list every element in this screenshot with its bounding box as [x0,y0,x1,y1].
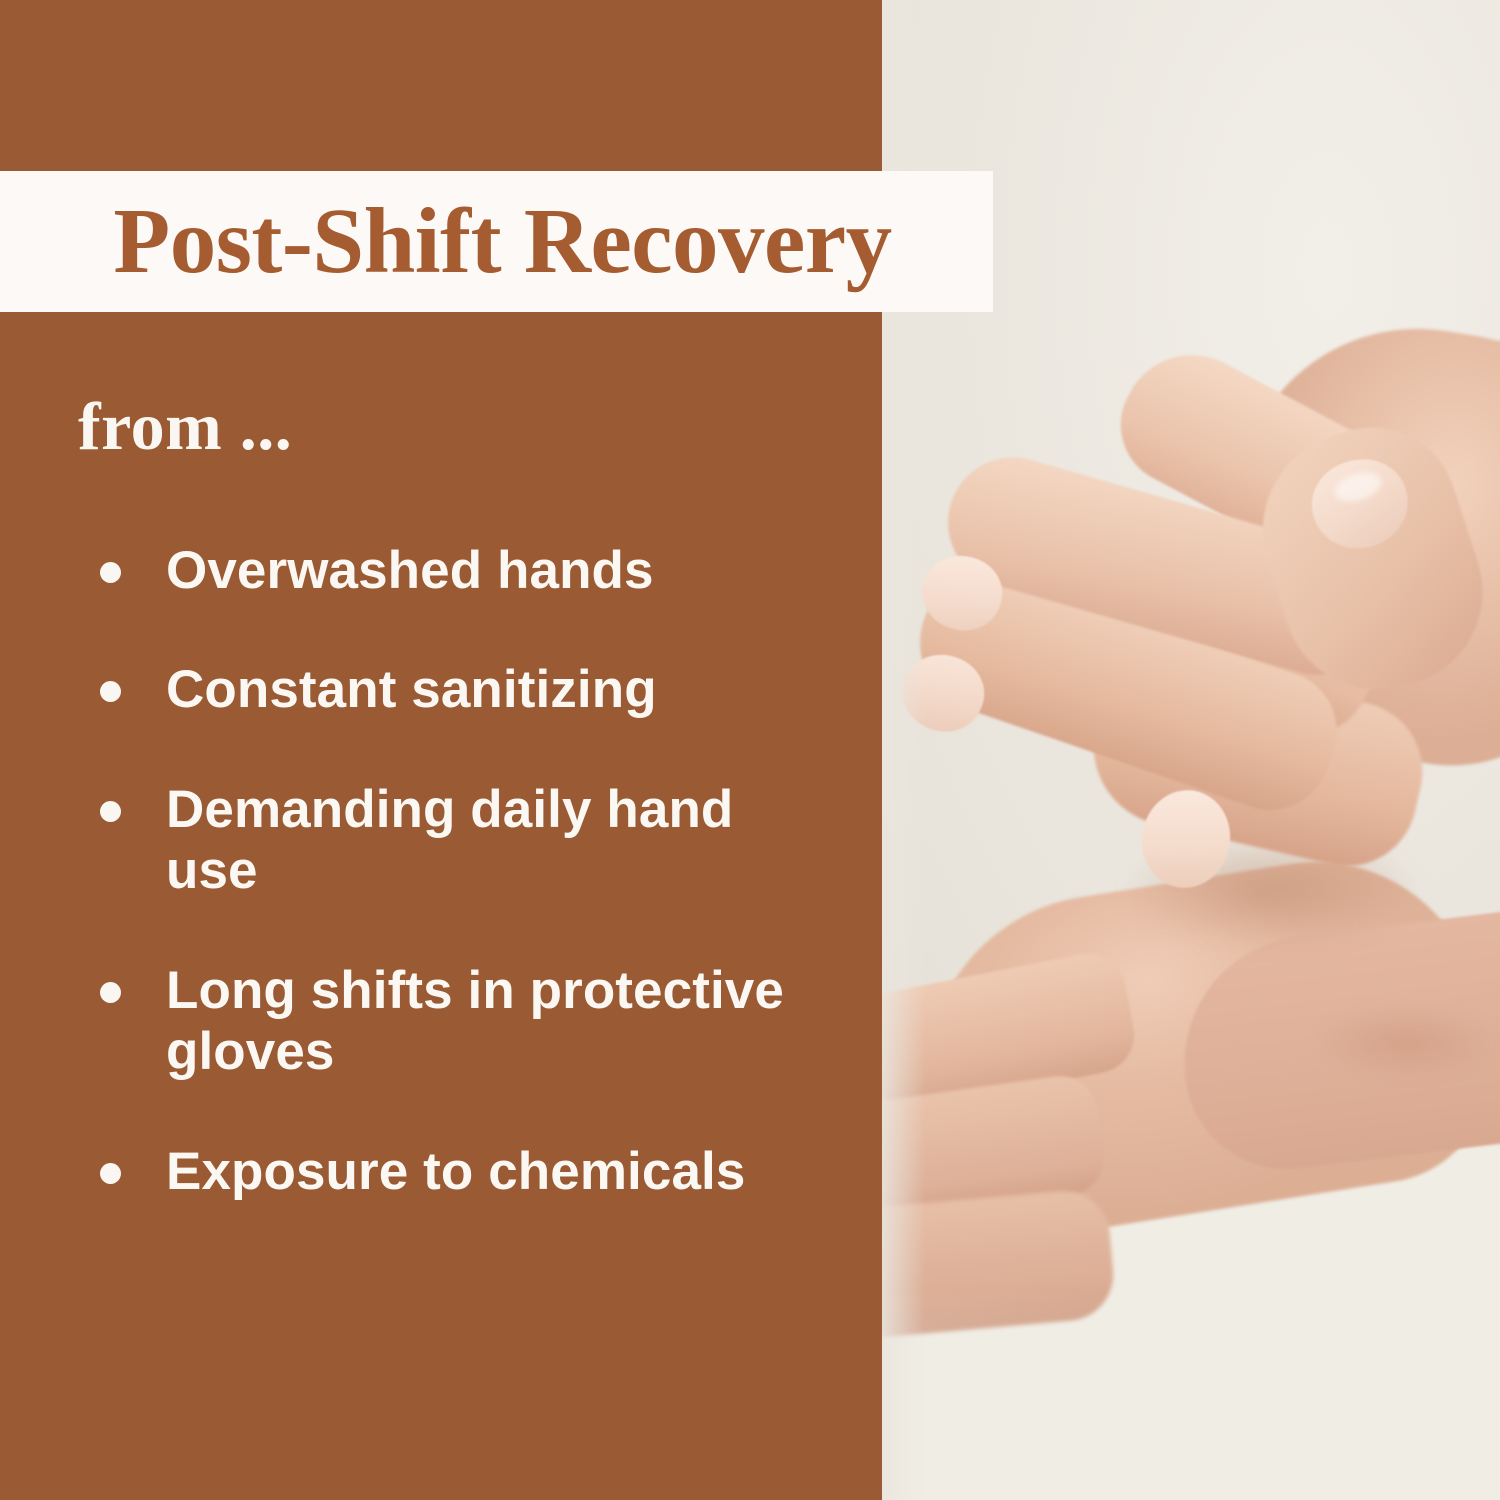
lower-hand-knuckle-shading [1312,1005,1500,1080]
list-item-label: Overwashed hands [166,540,654,601]
bullet-dot-icon [100,681,121,702]
list-item: Exposure to chemicals [100,1141,800,1202]
list-item-label: Constant sanitizing [166,659,657,720]
list-item: Overwashed hands [100,540,800,601]
list-item-label: Demanding daily hand use [166,779,800,902]
bullet-dot-icon [100,1163,121,1184]
bullet-dot-icon [100,982,121,1003]
bullet-dot-icon [100,562,121,583]
bullet-dot-icon [100,801,121,822]
marketing-infographic: Post-Shift Recovery from ... Overwashed … [0,0,1500,1500]
pain-point-list: Overwashed hands Constant sanitizing Dem… [100,540,800,1260]
list-item-label: Long shifts in protective gloves [166,960,800,1083]
list-item-label: Exposure to chemicals [166,1141,745,1202]
list-item: Constant sanitizing [100,659,800,720]
intro-text: from ... [78,392,292,460]
list-item: Demanding daily hand use [100,779,800,902]
list-item: Long shifts in protective gloves [100,960,800,1083]
page-title: Post-Shift Recovery [0,171,993,312]
